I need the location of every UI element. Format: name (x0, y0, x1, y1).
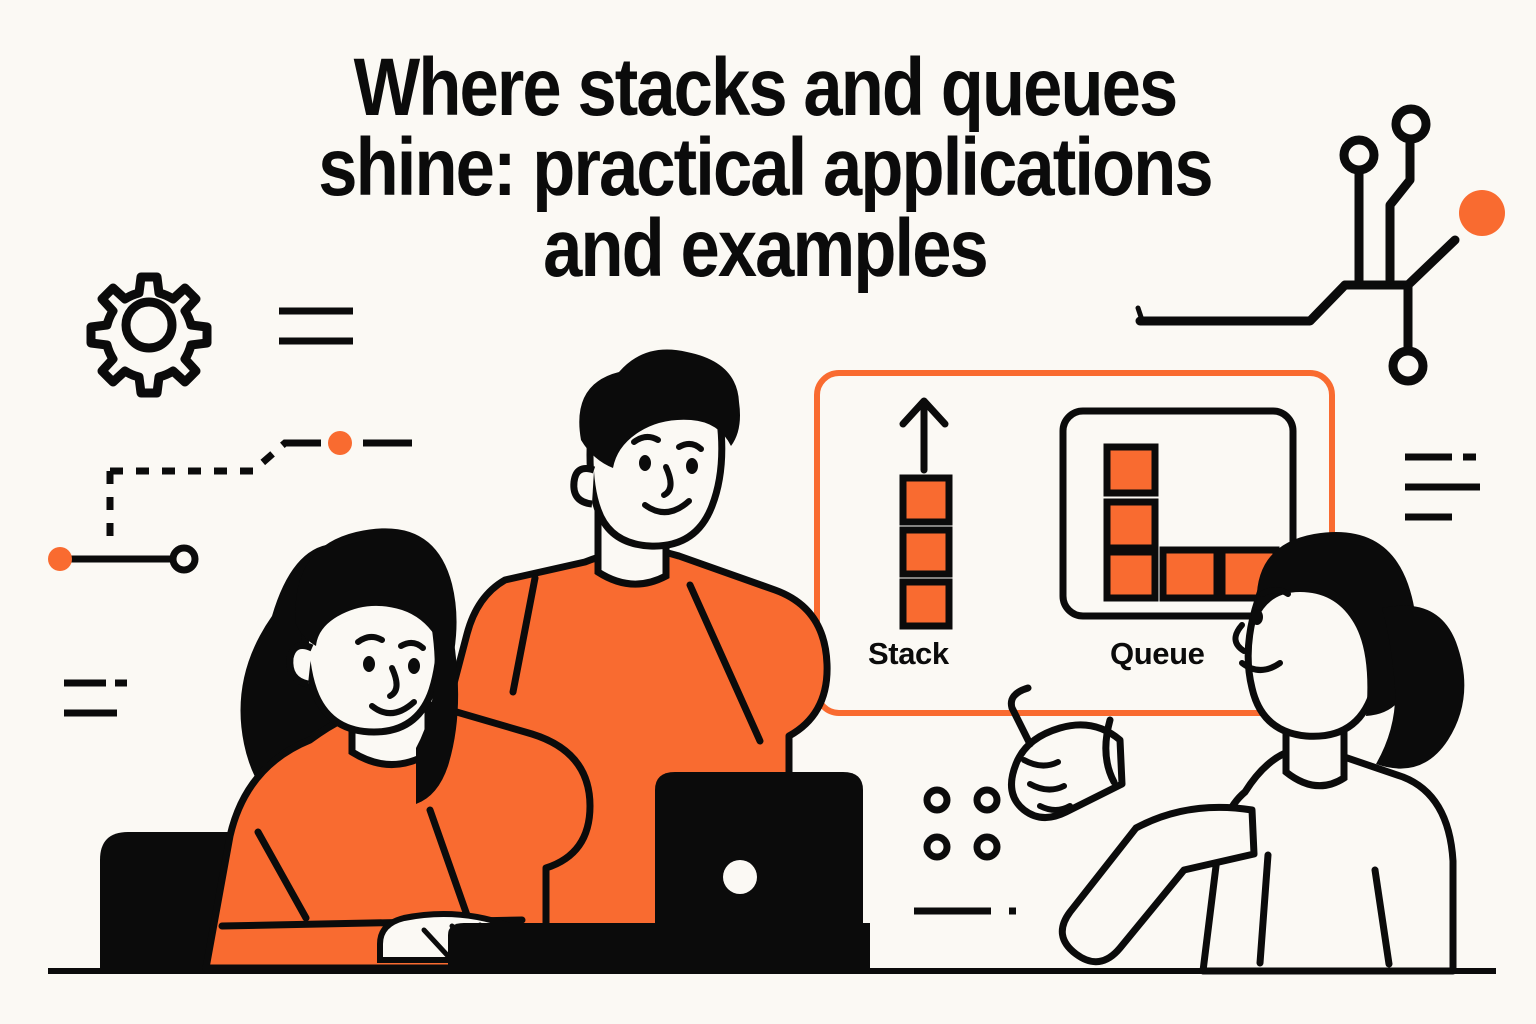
queue-label: Queue (1110, 636, 1204, 672)
artwork-layer (0, 0, 1536, 1024)
stack-arrow-icon (903, 401, 945, 470)
stack-box (903, 478, 949, 522)
top-left-lines (279, 311, 353, 341)
circuit-node-hollow (1396, 109, 1426, 139)
accent-dot (48, 547, 72, 571)
dashed-path (110, 443, 318, 471)
right-lines (1405, 457, 1480, 517)
queue-box (1107, 502, 1155, 548)
circuit-tree (1140, 140, 1455, 352)
lower-left-lines (64, 683, 127, 713)
stack-label: Stack (868, 636, 949, 672)
queue-box (1163, 550, 1217, 598)
circuit-node-hollow (173, 548, 195, 570)
queue-box (1107, 552, 1155, 598)
dot-grid (927, 790, 997, 857)
queue-box (1107, 447, 1155, 493)
laptop-logo (723, 860, 757, 894)
queue-boxes (1107, 447, 1276, 598)
stack-box (903, 530, 949, 574)
stack-boxes (903, 478, 949, 626)
stack-box (903, 582, 949, 626)
circuit-node-hollow (1344, 140, 1374, 170)
accent-dot (1459, 190, 1505, 236)
circuit-node-hollow (1393, 351, 1423, 381)
illustration-canvas: Where stacks and queues shine: practical… (0, 0, 1536, 1024)
gear-icon (91, 277, 207, 393)
accent-dot (328, 431, 352, 455)
